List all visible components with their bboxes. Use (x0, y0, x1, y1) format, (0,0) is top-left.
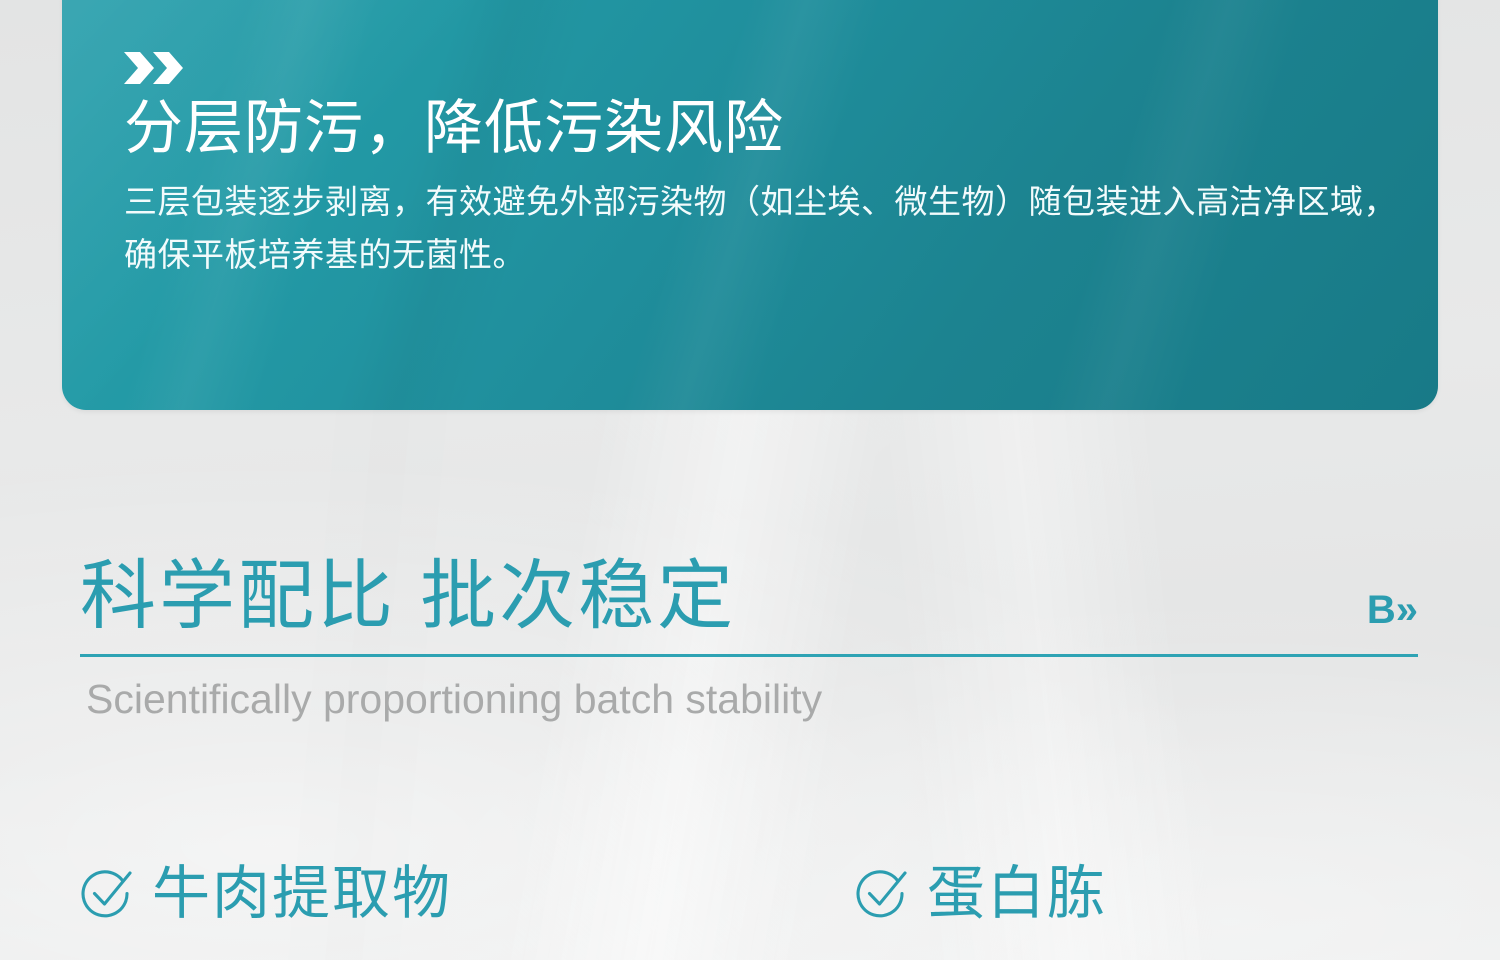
ingredient-list: 牛肉提取物 蛋白胨 (80, 862, 1420, 926)
circle-check-icon (855, 867, 909, 921)
feature-card-heading: 分层防污，降低污染风险 (124, 96, 1398, 161)
ingredient-item-0: 牛肉提取物 (80, 862, 855, 926)
feature-card-body: 三层包装逐步剥离，有效避免外部污染物（如尘埃、微生物）随包装进入高洁净区域，确保… (124, 175, 1398, 282)
product-detail-page: 分层防污，降低污染风险 三层包装逐步剥离，有效避免外部污染物（如尘埃、微生物）随… (0, 0, 1500, 960)
section-block: 科学配比 批次稳定 B» Scientifically proportionin… (80, 556, 1418, 724)
ingredient-label: 牛肉提取物 (152, 862, 452, 926)
double-chevron-right-icon (124, 52, 186, 84)
feature-card: 分层防污，降低污染风险 三层包装逐步剥离，有效避免外部污染物（如尘埃、微生物）随… (62, 0, 1438, 410)
section-divider (80, 654, 1418, 657)
section-title-row: 科学配比 批次稳定 B» (80, 556, 1418, 638)
section-subtitle: Scientifically proportioning batch stabi… (86, 675, 1418, 724)
ingredient-item-1: 蛋白胨 (855, 862, 1107, 926)
brand-logo-mark: B» (1367, 590, 1418, 638)
circle-check-icon (80, 867, 134, 921)
section-title: 科学配比 批次稳定 (80, 556, 736, 638)
feature-card-content: 分层防污，降低污染风险 三层包装逐步剥离，有效避免外部污染物（如尘埃、微生物）随… (124, 52, 1398, 282)
ingredient-label: 蛋白胨 (927, 862, 1107, 926)
